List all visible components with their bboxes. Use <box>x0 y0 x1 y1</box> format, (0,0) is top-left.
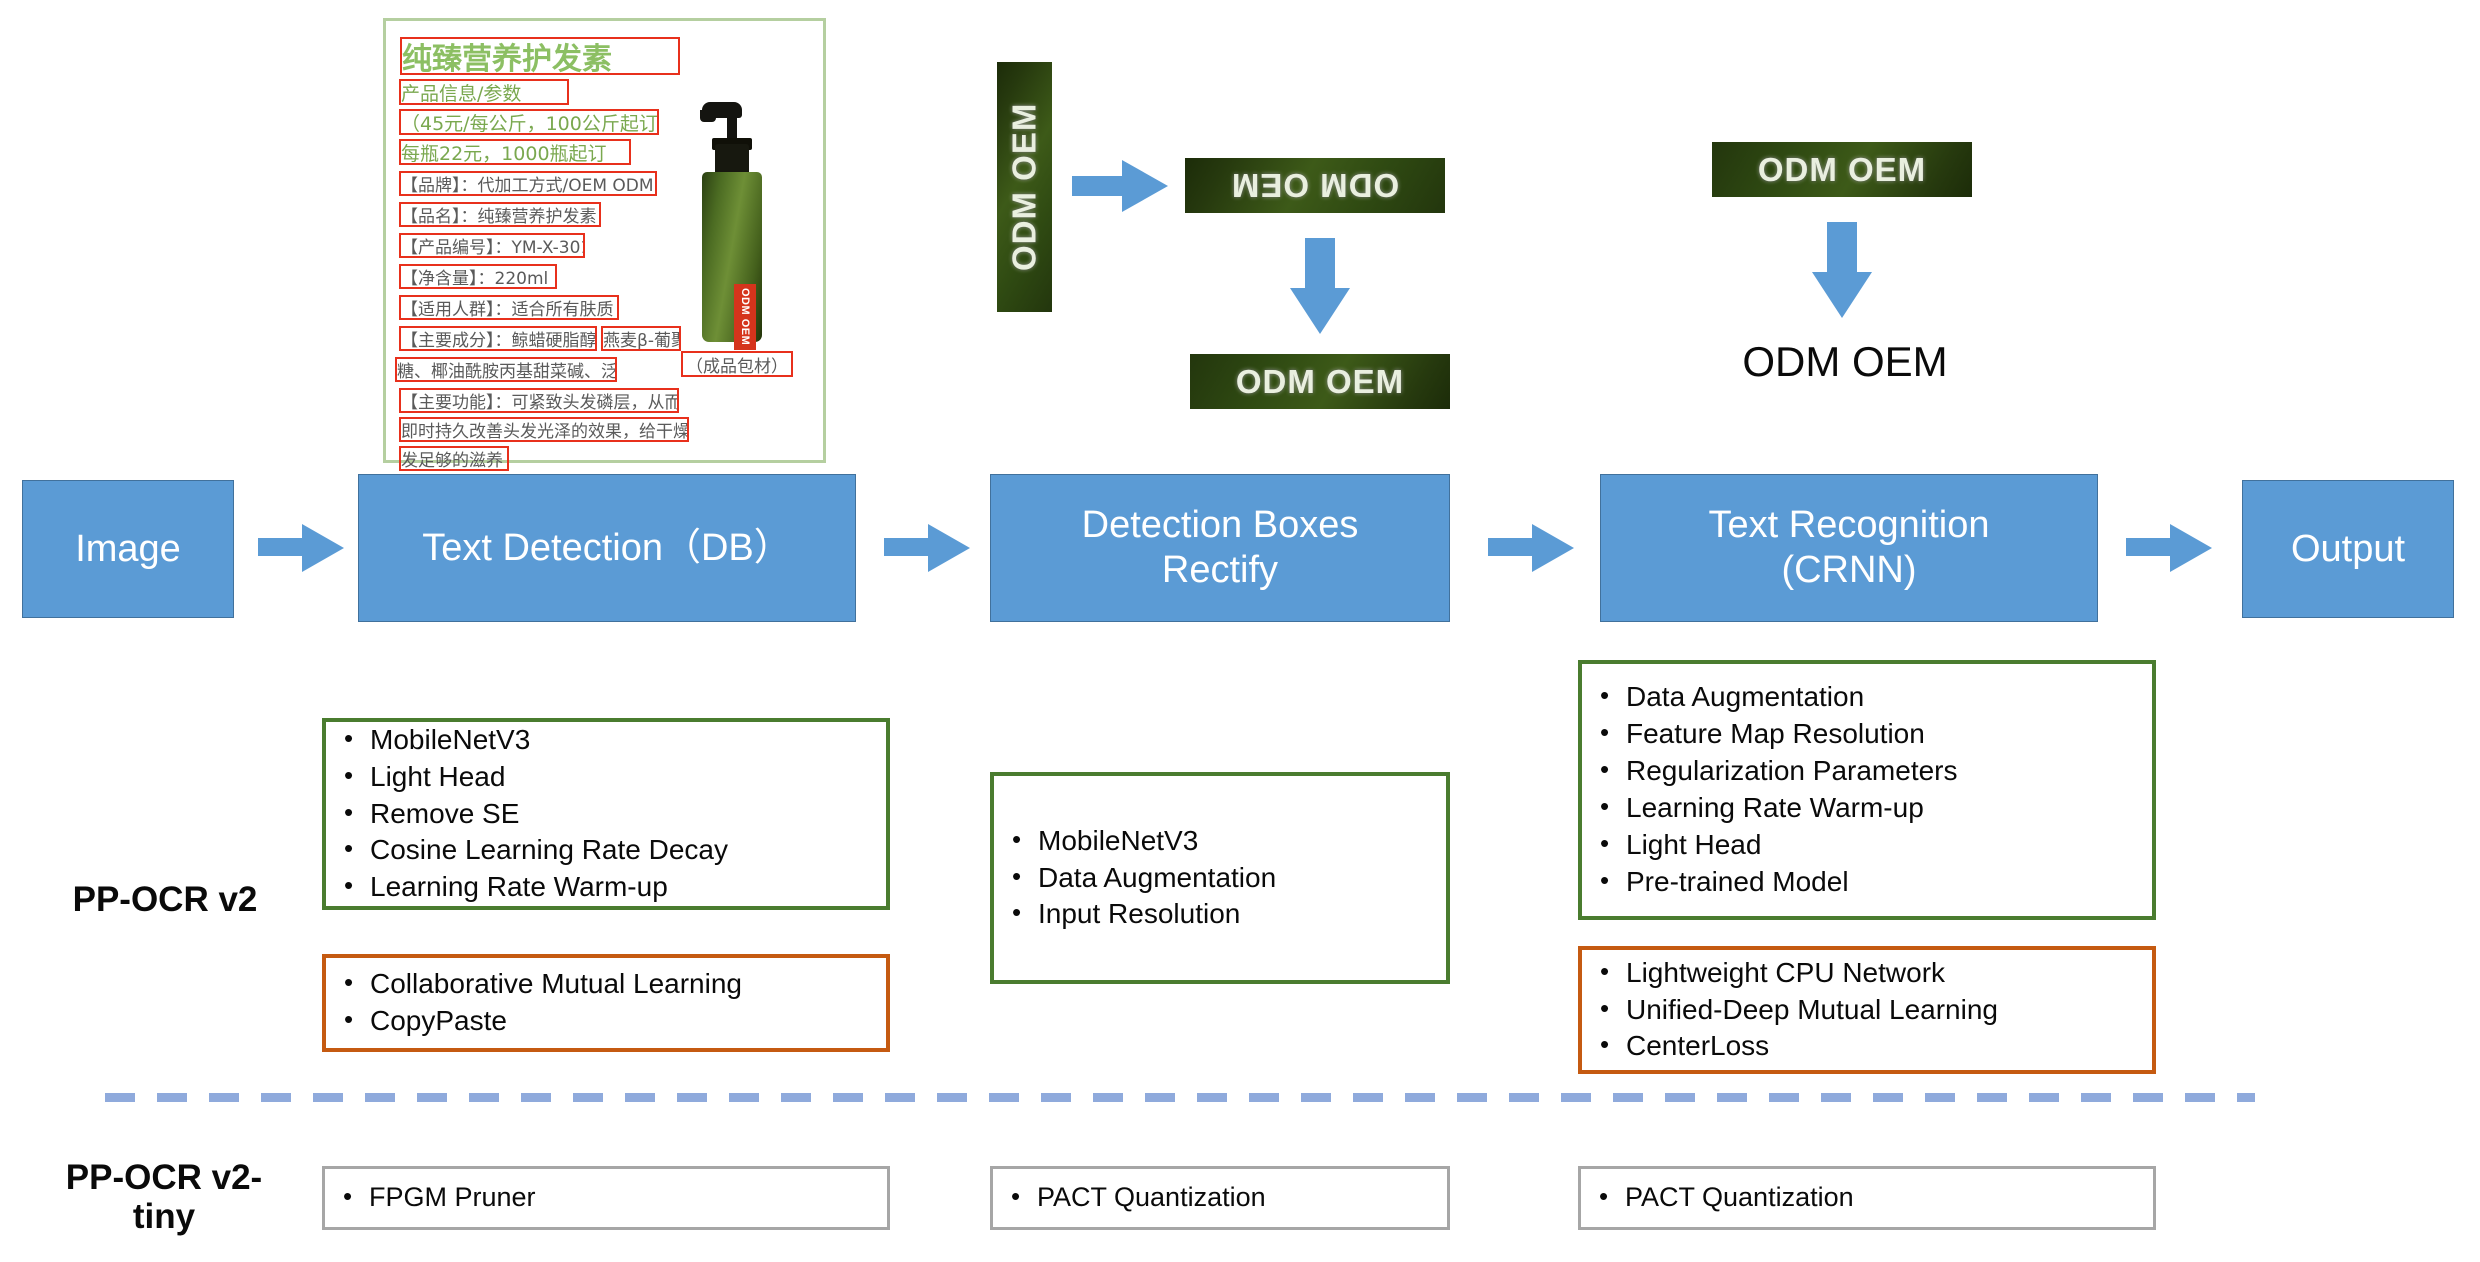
detection-box-line-9: 燕麦β-葡聚 <box>601 326 681 351</box>
detection-box-title: 纯臻营养护发素 <box>400 37 680 75</box>
pipeline-stage-image[interactable]: Image <box>22 480 234 618</box>
features-rectify-green-box: MobileNetV3Data AugmentationInput Resolu… <box>990 772 1450 984</box>
detection-box-line-7: 【适用人群】：适合所有肤质 <box>399 295 619 320</box>
features-tiny-rectify-box: PACT Quantization <box>990 1166 1450 1230</box>
detection-box-line-11: 【主要功能】：可紧致头发磷层，从而达到 <box>399 388 679 413</box>
features-detection-green-box: MobileNetV3Light HeadRemove SECosine Lea… <box>322 718 890 910</box>
detection-box-line-12: 即时持久改善头发光泽的效果，给干燥的头 <box>399 417 689 442</box>
detection-box-line-0: 产品信息/参数 <box>399 79 569 105</box>
feature-list: PACT Quantization <box>1581 1180 2153 1216</box>
arrow-recognition-to-output-box <box>2126 524 2212 572</box>
feature-list-item: Unified-Deep Mutual Learning <box>1626 992 2152 1029</box>
arrow-rectify-to-recognition <box>1488 524 1574 572</box>
features-recognition-green-box: Data AugmentationFeature Map ResolutionR… <box>1578 660 2156 920</box>
row-label-pp-ocr-v2-tiny: PP-OCR v2- tiny <box>48 1158 280 1236</box>
feature-list-item: CenterLoss <box>1626 1028 2152 1065</box>
feature-list: Collaborative Mutual LearningCopyPaste <box>326 966 886 1040</box>
pipeline-stage-text-recognition[interactable]: Text Recognition (CRNN) <box>1600 474 2098 622</box>
arrow-crop-to-flipped <box>1072 160 1168 212</box>
product-bottle-illustration: ODM OEM <box>690 96 774 344</box>
crop-recognition-input-odm-oem: ODM OEM <box>1712 142 1972 197</box>
crop-flipped-odm-oem: ODM OEM <box>1185 158 1445 213</box>
pipeline-stage-output[interactable]: Output <box>2242 480 2454 618</box>
arrow-flipped-to-rectified <box>1290 238 1350 334</box>
feature-list-item: Regularization Parameters <box>1626 753 2152 790</box>
pipeline-stage-detection-boxes-rectify[interactable]: Detection Boxes Rectify <box>990 474 1450 622</box>
features-tiny-recognition-box: PACT Quantization <box>1578 1166 2156 1230</box>
feature-list: MobileNetV3Data AugmentationInput Resolu… <box>994 823 1446 934</box>
bottle-label-text: ODM OEM <box>734 284 756 350</box>
feature-list: PACT Quantization <box>993 1180 1447 1216</box>
feature-list: FPGM Pruner <box>325 1180 887 1216</box>
feature-list: Data AugmentationFeature Map ResolutionR… <box>1582 679 2152 901</box>
feature-list-item: Data Augmentation <box>1038 860 1446 897</box>
features-tiny-detection-box: FPGM Pruner <box>322 1166 890 1230</box>
detection-box-line-4: 【品名】：纯臻营养护发素 <box>399 202 601 227</box>
pipeline-stage-text-detection[interactable]: Text Detection（DB） <box>358 474 856 622</box>
feature-list-item: Learning Rate Warm-up <box>1626 790 2152 827</box>
arrow-recognition-to-output <box>1812 222 1872 318</box>
bottle-body: ODM OEM <box>702 172 762 342</box>
recognition-output-text: ODM OEM <box>1700 338 1990 386</box>
feature-list-item: Light Head <box>370 759 886 796</box>
feature-list-item: Pre-trained Model <box>1626 864 2152 901</box>
features-recognition-orange-box: Lightweight CPU NetworkUnified-Deep Mutu… <box>1578 946 2156 1074</box>
crop-rectified-odm-oem: ODM OEM <box>1190 354 1450 409</box>
feature-list-item: FPGM Pruner <box>369 1180 887 1216</box>
feature-list-item: PACT Quantization <box>1037 1180 1447 1216</box>
detection-box-bottle-caption: （成品包材） <box>681 351 793 377</box>
feature-list-item: MobileNetV3 <box>370 722 886 759</box>
feature-list-item: Remove SE <box>370 796 886 833</box>
bottle-spout <box>700 110 716 122</box>
detection-box-line-8: 【主要成分】：鲸蜡硬脂醇 <box>399 326 597 351</box>
feature-list-item: Light Head <box>1626 827 2152 864</box>
arrow-detection-to-rectify <box>884 524 970 572</box>
feature-list-item: Learning Rate Warm-up <box>370 869 886 906</box>
feature-list: Lightweight CPU NetworkUnified-Deep Mutu… <box>1582 955 2152 1066</box>
detection-box-line-3: 【品牌】：代加工方式/OEM ODM <box>399 171 657 196</box>
detection-box-line-5: 【产品编号】：YM-X-3011 <box>399 233 585 258</box>
feature-list-item: Feature Map Resolution <box>1626 716 2152 753</box>
feature-list: MobileNetV3Light HeadRemove SECosine Lea… <box>326 722 886 907</box>
features-detection-orange-box: Collaborative Mutual LearningCopyPaste <box>322 954 890 1052</box>
feature-list-item: Data Augmentation <box>1626 679 2152 716</box>
feature-list-item: MobileNetV3 <box>1038 823 1446 860</box>
feature-list-item: Cosine Learning Rate Decay <box>370 832 886 869</box>
row-label-pp-ocr-v2: PP-OCR v2 <box>40 880 290 919</box>
detection-box-line-1: （45元/每公斤，100公斤起订） <box>399 109 659 135</box>
detection-box-line-6: 【净含量】：220ml <box>399 264 557 289</box>
feature-list-item: PACT Quantization <box>1625 1180 2153 1216</box>
crop-vertical-odm-oem: ODM OEM <box>997 62 1052 312</box>
arrow-image-to-detection <box>258 524 344 572</box>
detection-box-line-13: 发足够的滋养 <box>399 446 509 471</box>
detection-box-line-10: 糖、椰油酰胺丙基甜菜碱、泛醌 <box>395 357 617 382</box>
feature-list-item: Lightweight CPU Network <box>1626 955 2152 992</box>
section-divider <box>105 1093 2255 1102</box>
detection-box-line-2: 每瓶22元，1000瓶起订 <box>399 139 631 165</box>
feature-list-item: Collaborative Mutual Learning <box>370 966 886 1003</box>
feature-list-item: CopyPaste <box>370 1003 886 1040</box>
feature-list-item: Input Resolution <box>1038 896 1446 933</box>
